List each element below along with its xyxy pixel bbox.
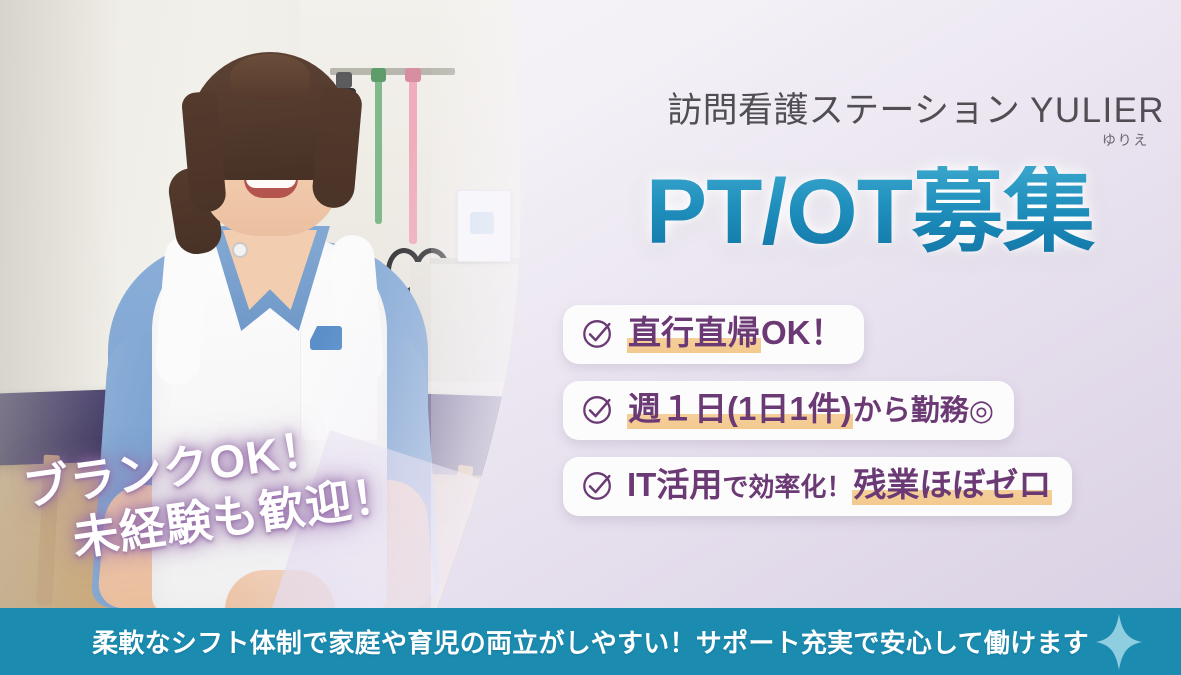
sparkle-icon (1095, 613, 1143, 671)
station-name: 訪問看護ステーション YULIER (575, 82, 1165, 133)
feature-list: 直行直帰OK！ 週１日(1日1件)から勤務◎ IT活用で効率化！残業 (563, 305, 1163, 533)
feature-2-rest: から勤務◎ (853, 394, 994, 428)
feature-1-highlight: 直行直帰 (627, 314, 761, 353)
station-name-jp: 訪問看護ステーション (667, 91, 1020, 130)
bottom-message: 柔軟なシフト体制で家庭や育児の両立がしやすい！サポート充実で安心して働けます (92, 623, 1089, 660)
feature-3-highlight: 残業ほぼゼロ (852, 466, 1052, 505)
feature-pill-3-text: IT活用で効率化！残業ほぼゼロ (627, 466, 1052, 505)
station-furigana: ゆりえ (1102, 130, 1149, 150)
feature-3-prefix: IT活用 (627, 466, 722, 505)
clinic-photo (0, 0, 545, 608)
feature-pill-1: 直行直帰OK！ (563, 305, 864, 364)
feature-pill-2: 週１日(1日1件)から勤務◎ (563, 381, 1014, 440)
content-area: 訪問看護ステーション YULIER ゆりえ PT/OT募集 直行直帰OK！ (545, 0, 1181, 608)
page-title: PT/OT募集 (565, 166, 1175, 258)
bottom-message-bar: 柔軟なシフト体制で家庭や育児の両立がしやすい！サポート充実で安心して働けます (0, 608, 1181, 675)
feature-pill-2-text: 週１日(1日1件)から勤務◎ (627, 390, 994, 429)
feature-1-rest: OK！ (761, 314, 844, 353)
recruitment-banner: ブランクOK！ 未経験も歓迎！ 訪問看護ステーション YULIER ゆりえ PT… (0, 0, 1181, 675)
feature-3-middle: で効率化！ (722, 472, 852, 503)
feature-2-highlight: 週１日(1日1件) (627, 390, 853, 429)
check-circle-icon (581, 316, 615, 350)
check-circle-icon (581, 468, 615, 502)
feature-pill-3: IT活用で効率化！残業ほぼゼロ (563, 457, 1072, 516)
check-circle-icon (581, 392, 615, 426)
photo-edge-sheen (431, 0, 545, 608)
feature-pill-1-text: 直行直帰OK！ (627, 314, 844, 353)
photo-panel: ブランクOK！ 未経験も歓迎！ (0, 0, 545, 608)
station-name-en: YULIER (1030, 91, 1165, 130)
